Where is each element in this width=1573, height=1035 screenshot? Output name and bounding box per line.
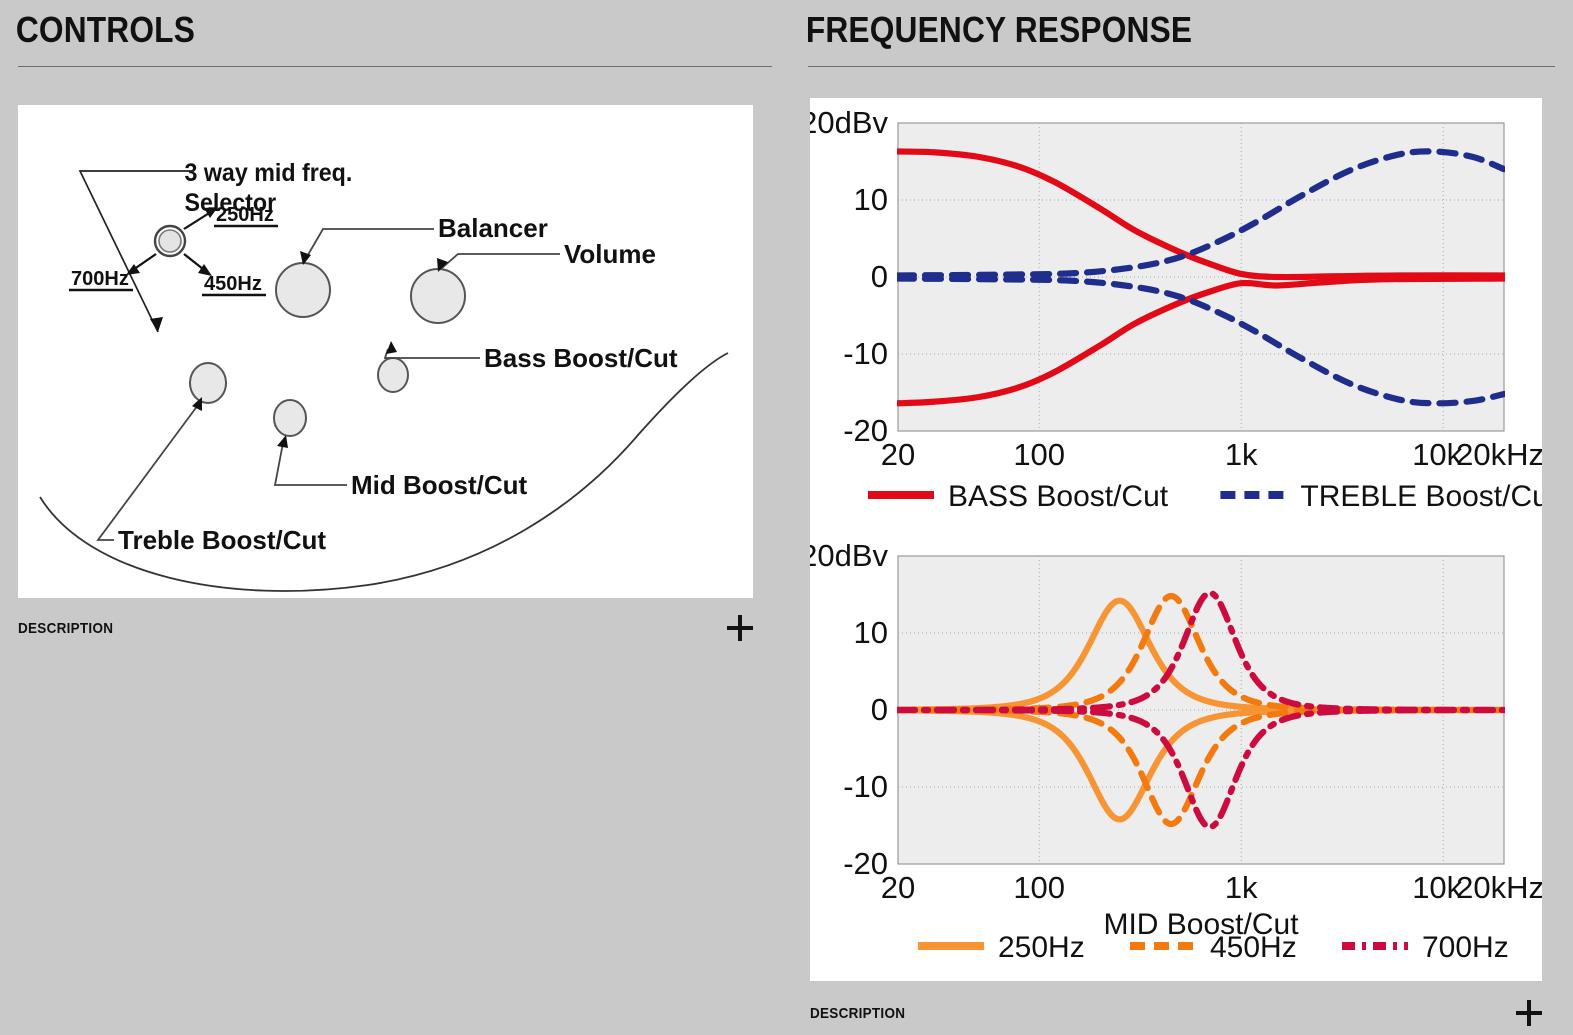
bass-knob[interactable]	[378, 358, 408, 392]
x-tick-label: 10k	[1412, 870, 1462, 905]
treble-knob[interactable]	[190, 363, 226, 403]
leader-volume	[442, 254, 560, 268]
x-tick-label: 20	[881, 870, 915, 905]
page-title-frequency-response: FREQUENCY RESPONSE	[790, 0, 1479, 54]
label-700hz: 700Hz	[71, 268, 129, 290]
balancer-knob[interactable]	[276, 263, 330, 317]
title-divider-left	[18, 66, 772, 67]
label-450hz: 450Hz	[204, 273, 262, 295]
x-tick-label: 10k	[1412, 437, 1462, 472]
y-tick-label: 0	[871, 259, 888, 294]
charts-panel: 20dBv100-10-20201001k10k20kHzBASS Boost/…	[810, 98, 1542, 981]
x-tick-label: 1k	[1225, 870, 1258, 905]
label-mid: Mid Boost/Cut	[351, 470, 528, 500]
volume-knob[interactable]	[411, 269, 465, 323]
description-label: DESCRIPTION	[810, 1005, 905, 1022]
description-bar-right[interactable]: DESCRIPTION	[810, 999, 1542, 1027]
selector-knob[interactable]	[155, 226, 185, 256]
description-label: DESCRIPTION	[18, 620, 113, 637]
y-tick-label: 20dBv	[810, 538, 888, 573]
leader-treble	[98, 405, 198, 540]
y-tick-label: 10	[854, 182, 888, 217]
legend-label: TREBLE Boost/Cut	[1300, 480, 1542, 513]
mid-knob[interactable]	[274, 400, 306, 436]
label-treble: Treble Boost/Cut	[118, 525, 326, 555]
leader-mid	[275, 443, 347, 485]
arrow-bass	[386, 341, 397, 354]
bass-treble-chart-block: 20dBv100-10-20201001k10k20kHzBASS Boost/…	[810, 98, 1542, 534]
label-selector-line1: 3 way mid freq.	[184, 159, 352, 187]
page-title-controls: CONTROLS	[0, 0, 695, 54]
leader-bass	[385, 349, 480, 358]
controls-diagram-panel: 3 way mid freq. Selector 250Hz	[18, 105, 753, 598]
controls-diagram: 3 way mid freq. Selector 250Hz	[18, 105, 753, 598]
y-tick-label: 10	[854, 615, 888, 650]
legend-label: 700Hz	[1422, 931, 1509, 964]
y-tick-label: 20dBv	[810, 105, 888, 140]
label-balancer: Balancer	[438, 213, 548, 243]
frequency-response-column: FREQUENCY RESPONSE	[790, 0, 1573, 67]
x-tick-label: 1k	[1225, 437, 1258, 472]
legend-label: BASS Boost/Cut	[948, 480, 1169, 513]
leader-balancer	[305, 229, 434, 260]
bass-treble-chart: 20dBv100-10-20201001k10k20kHzBASS Boost/…	[810, 98, 1542, 534]
x-tick-label: 20	[881, 437, 915, 472]
controls-column: CONTROLS	[0, 0, 790, 67]
y-tick-label: 0	[871, 692, 888, 727]
y-tick-label: -10	[843, 769, 888, 804]
x-tick-label: 20kHz	[1456, 870, 1542, 905]
arrow-mid	[277, 435, 288, 448]
expand-plus-icon[interactable]	[1516, 1000, 1542, 1026]
y-tick-label: -10	[843, 336, 888, 371]
legend-label: 250Hz	[998, 931, 1085, 964]
expand-plus-icon[interactable]	[727, 615, 753, 641]
legend-label: 450Hz	[1210, 931, 1297, 964]
page-root: CONTROLS 3 way mid freq. Selector	[0, 0, 1573, 1035]
x-tick-label: 100	[1013, 437, 1065, 472]
label-volume: Volume	[564, 239, 656, 269]
mid-chart-block: 20dBv100-10-20201001k10k20kHzMID Boost/C…	[810, 534, 1542, 981]
label-bass: Bass Boost/Cut	[484, 343, 678, 373]
mid-chart: 20dBv100-10-20201001k10k20kHzMID Boost/C…	[810, 534, 1542, 981]
description-bar-left[interactable]: DESCRIPTION	[18, 614, 753, 642]
x-tick-label: 100	[1013, 870, 1065, 905]
label-250hz: 250Hz	[216, 204, 274, 226]
x-tick-label: 20kHz	[1456, 437, 1542, 472]
title-divider-right	[808, 66, 1555, 67]
